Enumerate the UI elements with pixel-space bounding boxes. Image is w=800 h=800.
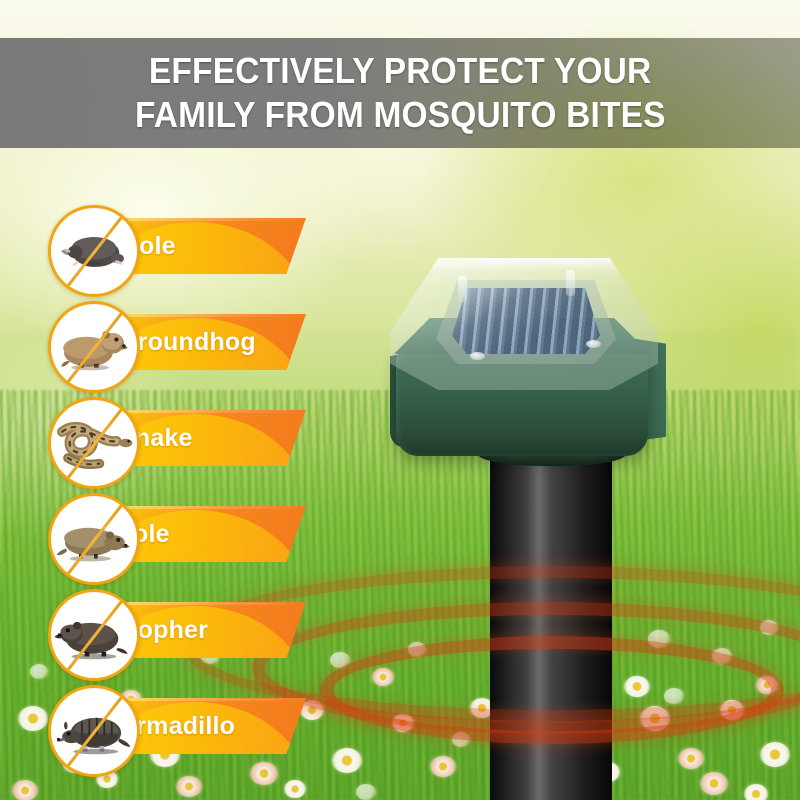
product-marketing-image: EFFECTIVELY PROTECT YOUR FAMILY FROM MOS… [0, 0, 800, 800]
pest-list-item[interactable]: Vole [0, 488, 360, 584]
pest-list-item[interactable]: Snake [0, 392, 360, 488]
pest-photo-badge [48, 589, 140, 681]
pest-list-item[interactable]: Mole [0, 200, 360, 296]
pest-list-item[interactable]: Gopher [0, 584, 360, 680]
pest-photo-badge [48, 493, 140, 585]
pest-list: Mole Groundhog Snake Vole [0, 0, 360, 800]
pest-photo-badge [48, 685, 140, 777]
pest-list-item[interactable]: Armadillo [0, 680, 360, 776]
pest-photo-badge [48, 397, 140, 489]
pest-photo-badge [48, 301, 140, 393]
pest-list-item[interactable]: Groundhog [0, 296, 360, 392]
pest-photo-badge [48, 205, 140, 297]
